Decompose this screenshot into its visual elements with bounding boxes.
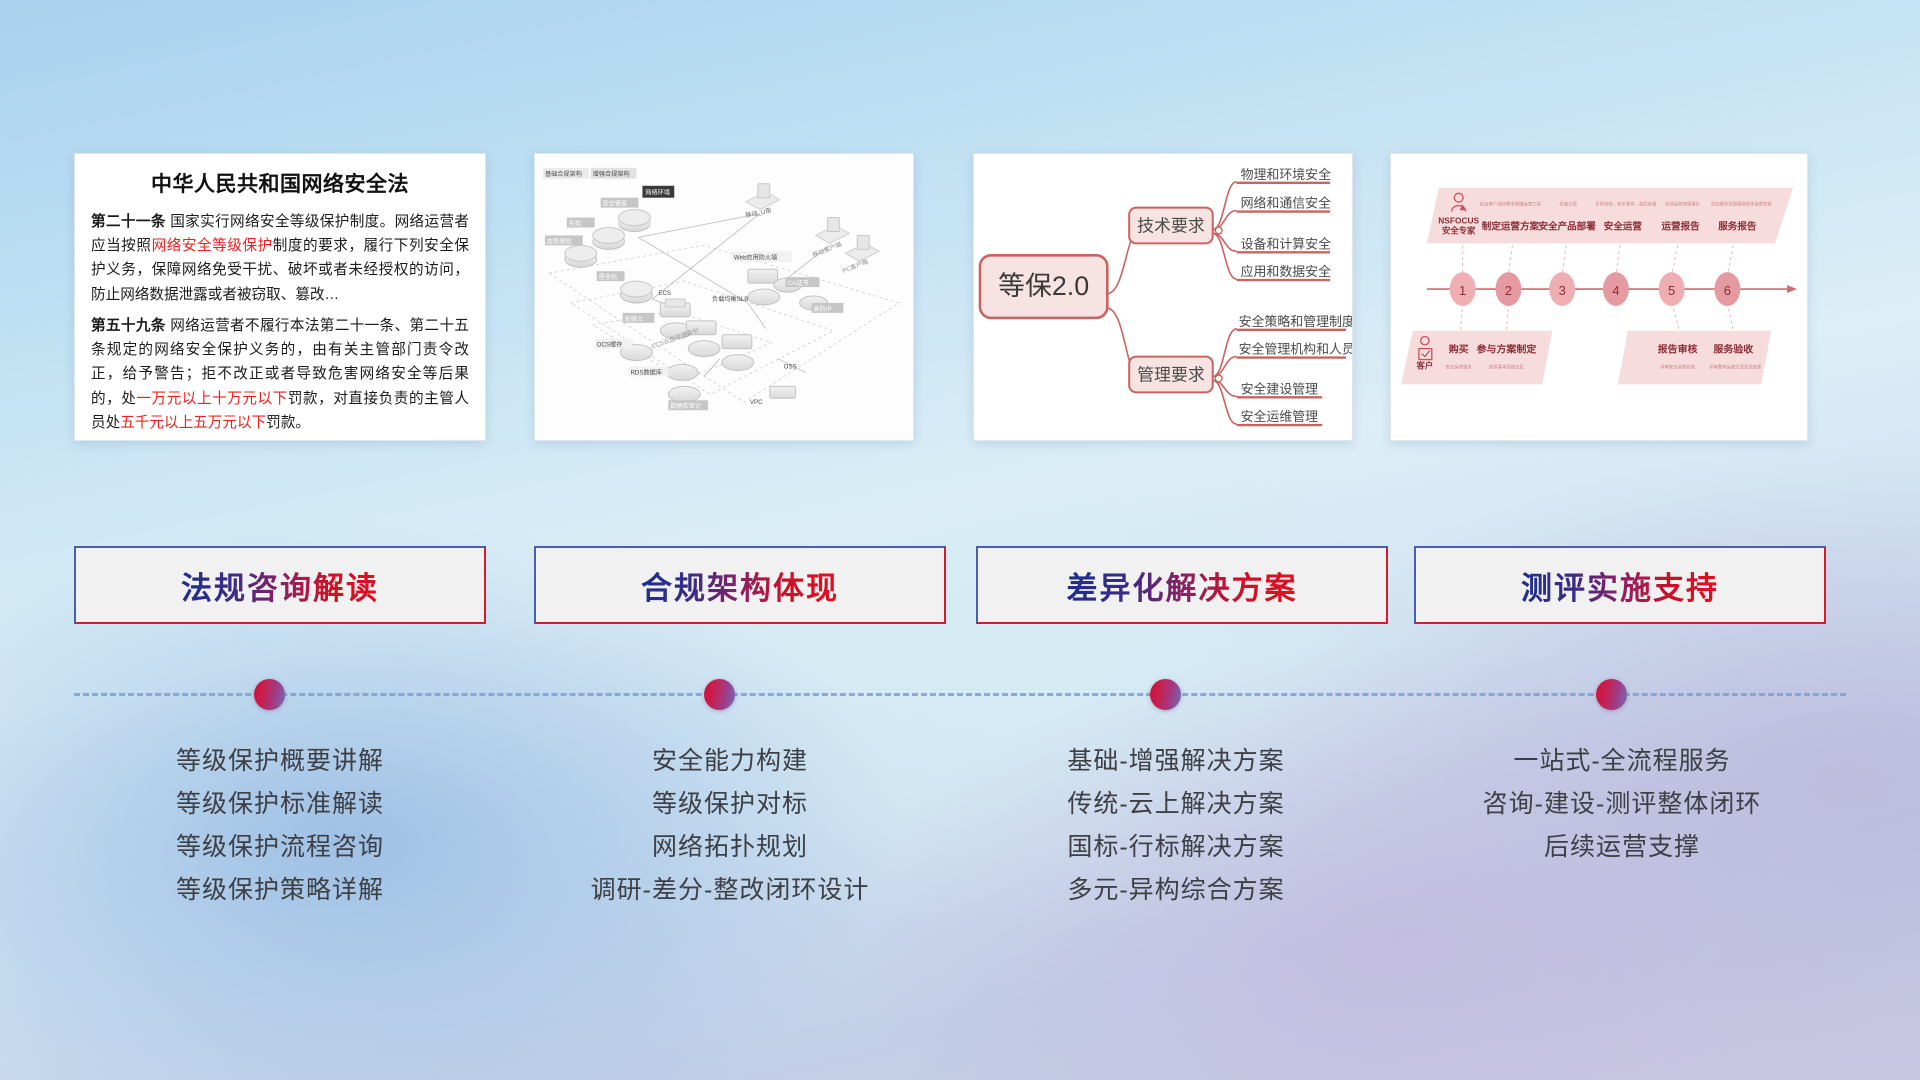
nsfocus-step-num-4: 4 <box>1612 283 1619 298</box>
mindmap-diagram: 等保2.0 技术要求 管理要求 物理和环境安全 网络和通信安全 设备和计算安全 … <box>974 154 1352 440</box>
list-item: 调研-差分-整改闭环设计 <box>524 869 936 912</box>
list-item: 多元-异构综合方案 <box>970 869 1382 912</box>
list-item: 等级保护概要讲解 <box>74 740 486 783</box>
architecture-svg: 基础合规架构 增强合规架构 网络环境 安全管家 先知 态势感知 堡垒机 移动_U… <box>535 154 913 440</box>
nsfocus-top-actor: NSFOCUS <box>1438 216 1479 226</box>
mindmap-leaf-2-1: 安全策略和管理制度 <box>1239 314 1352 329</box>
arch-node-xianzhi: 先知 <box>569 220 581 228</box>
mindmap-svg: 等保2.0 技术要求 管理要求 物理和环境安全 网络和通信安全 设备和计算安全 … <box>974 154 1352 440</box>
list-item: 等级保护标准解读 <box>74 783 486 826</box>
headline-label-4: 测评实施支持 <box>1521 563 1719 608</box>
law-article-21-label: 第二十一条 <box>91 214 166 230</box>
nsfocus-step-num-5: 5 <box>1668 283 1675 298</box>
timeline-dot-4 <box>1596 679 1627 710</box>
headline-box-4[interactable]: 测评实施支持 <box>1414 546 1826 624</box>
nsfocus-bottom-step-caption-4: 评审整体运营方案实现效果 <box>1709 364 1762 371</box>
nsfocus-bottom-actor: 客户 <box>1415 361 1433 371</box>
law-article-21: 第二十一条 国家实行网络安全等级保护制度。网络运营者应当按照网络安全等级保护制度… <box>91 210 469 307</box>
arch-tab-enhanced: 增强合规架构 <box>593 170 630 178</box>
arch-node-waf: Web应用防火墙 <box>734 253 777 261</box>
law-article-59-label: 第五十九条 <box>91 318 166 334</box>
timeline-dot-2 <box>704 679 735 710</box>
headline-label-2: 合规架构体现 <box>641 563 839 608</box>
arch-node-ca: CA证书 <box>788 279 809 287</box>
nsfocus-card: 1 2 3 4 5 6 NSFOCUS 安全专家 制 <box>1390 153 1808 441</box>
arch-node-slb: 负载均衡SLB <box>712 295 748 303</box>
nsfocus-top-step-caption-5: 形成运营效果报告 <box>1665 201 1701 208</box>
arch-node-vpc: VPC <box>750 399 763 406</box>
nsfocus-bottom-banner-right <box>1618 331 1771 385</box>
bullet-column-1: 等级保护概要讲解 等级保护标准解读 等级保护流程咨询 等级保护策略详解 <box>74 740 486 912</box>
arch-node-bastion: 堡垒机 <box>599 273 618 281</box>
arch-node-situation: 态势感知 <box>547 237 572 245</box>
nsfocus-top-step-title-2: 制定运营方案 <box>1482 220 1540 232</box>
mindmap-branch-label-2: 管理要求 <box>1137 365 1205 384</box>
nsfocus-step-num-6: 6 <box>1724 283 1731 298</box>
mindmap-card: 等保2.0 技术要求 管理要求 物理和环境安全 网络和通信安全 设备和计算安全 … <box>973 153 1353 441</box>
timeline-dot-1 <box>254 679 285 710</box>
law-article-59-highlight-2: 五千元以上五万元以下 <box>120 415 266 431</box>
list-item: 后续运营支撑 <box>1416 826 1828 869</box>
nsfocus-diagram: 1 2 3 4 5 6 NSFOCUS 安全专家 制 <box>1391 154 1807 440</box>
list-item: 等级保护策略详解 <box>74 869 486 912</box>
law-article-21-highlight: 网络安全等级保护 <box>152 238 273 254</box>
mindmap-leaf-2-2: 安全管理机构和人员 <box>1239 342 1352 357</box>
headline-box-2[interactable]: 合规架构体现 <box>534 546 946 624</box>
nsfocus-top-step-caption-2: 结合客户现状需求明确运营工具 <box>1480 201 1542 208</box>
headline-box-3[interactable]: 差异化解决方案 <box>976 546 1388 624</box>
timeline-dot-3 <box>1150 679 1181 710</box>
list-item: 基础-增强解决方案 <box>970 740 1382 783</box>
arch-node-oss: OSS <box>784 364 797 371</box>
nsfocus-top-step-title-5: 运营报告 <box>1662 220 1701 232</box>
mindmap-leaf-1-2: 网络和通信安全 <box>1241 196 1332 211</box>
nsfocus-bottom-step-title-2: 参与方案制定 <box>1477 343 1537 356</box>
nsfocus-top-banner <box>1427 188 1793 244</box>
list-item: 国标-行标解决方案 <box>970 826 1382 869</box>
list-item: 一站式-全流程服务 <box>1416 740 1828 783</box>
nsfocus-svg: 1 2 3 4 5 6 NSFOCUS 安全专家 制 <box>1391 154 1807 440</box>
law-article-59-highlight-1: 一万元以上十万元以下 <box>136 391 287 407</box>
list-item: 等级保护流程咨询 <box>74 826 486 869</box>
mindmap-leaf-2-3: 安全建设管理 <box>1241 381 1319 396</box>
list-item: 等级保护对标 <box>524 783 936 826</box>
law-card-body: 中华人民共和国网络安全法 第二十一条 国家实行网络安全等级保护制度。网络运营者应… <box>75 154 485 441</box>
arch-node-network: 网络环境 <box>645 189 670 197</box>
list-item: 网络拓扑规划 <box>524 826 936 869</box>
headline-box-1[interactable]: 法规咨询解读 <box>74 546 486 624</box>
nsfocus-top-step-title-6: 服务报告 <box>1718 220 1757 232</box>
arch-node-antiddos: 高防IP <box>814 305 832 313</box>
list-item: 传统-云上解决方案 <box>970 783 1382 826</box>
bullet-column-2: 安全能力构建 等级保护对标 网络拓扑规划 调研-差分-整改闭环设计 <box>524 740 936 912</box>
law-article-59: 第五十九条 网络运营者不履行本法第二十一条、第二十五条规定的网络安全保护义务的，… <box>91 314 469 435</box>
nsfocus-top-step-caption-6: 总结服务范围落地总体运营效果 <box>1711 201 1773 208</box>
law-card: 中华人民共和国网络安全法 第二十一条 国家实行网络安全等级保护制度。网络运营者应… <box>74 153 486 441</box>
nsfocus-step-num-3: 3 <box>1559 283 1566 298</box>
mindmap-leaf-2-4: 安全运维管理 <box>1241 409 1319 424</box>
nsfocus-step-num-1: 1 <box>1459 283 1466 298</box>
headline-label-3: 差异化解决方案 <box>1067 563 1298 608</box>
mindmap-leaf-1-1: 物理和环境安全 <box>1241 167 1332 182</box>
slide-stage: 中华人民共和国网络安全法 第二十一条 国家实行网络安全等级保护制度。网络运营者应… <box>0 0 1920 1080</box>
nsfocus-step-num-2: 2 <box>1505 283 1512 298</box>
arch-tab-basic: 基础合规架构 <box>545 170 582 178</box>
law-article-59-text-c: 罚款。 <box>266 415 310 431</box>
mindmap-root-label: 等保2.0 <box>998 271 1089 301</box>
arch-node-sec-butler: 安全管家 <box>603 200 628 208</box>
arch-node-ocs: OCS缓存 <box>597 341 623 349</box>
nsfocus-bottom-step-caption-2: 提供基本现状信息 <box>1489 364 1525 371</box>
headline-label-1: 法规咨询解读 <box>181 563 379 608</box>
arch-node-anqishi: 安骑士 <box>625 315 643 323</box>
timeline-rail <box>74 693 1846 696</box>
nsfocus-top-step-caption-4: 日常巡检、安全事件、高危处置 <box>1595 201 1657 208</box>
law-card-title: 中华人民共和国网络安全法 <box>91 168 469 198</box>
nsfocus-bottom-step-title-1: 购买 <box>1449 343 1469 356</box>
bullet-column-4: 一站式-全流程服务 咨询-建设-测评整体闭环 后续运营支撑 <box>1416 740 1828 869</box>
nsfocus-top-step-caption-3: 实施方案 <box>1559 201 1577 208</box>
arch-node-ecs: ECS <box>658 290 671 297</box>
nsfocus-bottom-banner-left <box>1401 331 1552 385</box>
nsfocus-bottom-step-title-4: 服务验收 <box>1713 343 1753 356</box>
nsfocus-bottom-step-caption-1: 安全运营服务 <box>1446 364 1473 371</box>
arch-node-rds: RDS数据库 <box>630 368 661 376</box>
bullet-column-3: 基础-增强解决方案 传统-云上解决方案 国标-行标解决方案 多元-异构综合方案 <box>970 740 1382 912</box>
mindmap-leaf-1-4: 应用和数据安全 <box>1241 264 1332 279</box>
nsfocus-bottom-step-caption-3: 评审安全运营效果 <box>1660 364 1696 371</box>
nsfocus-bottom-step-title-3: 报告审核 <box>1658 343 1698 356</box>
mindmap-leaf-1-3: 设备和计算安全 <box>1241 236 1332 251</box>
list-item: 咨询-建设-测评整体闭环 <box>1416 783 1828 826</box>
nsfocus-top-step-title-3: 安全产品部署 <box>1539 220 1597 232</box>
nsfocus-top-step-title-4: 安全运营 <box>1604 220 1643 232</box>
list-item: 安全能力构建 <box>524 740 936 783</box>
nsfocus-top-actor-sub: 安全专家 <box>1442 225 1476 235</box>
architecture-diagram: 基础合规架构 增强合规架构 网络环境 安全管家 先知 态势感知 堡垒机 移动_U… <box>535 154 913 440</box>
mindmap-branch-label-1: 技术要求 <box>1137 216 1205 235</box>
arch-node-db-audit: 数据库审计 <box>670 402 701 410</box>
architecture-card: 基础合规架构 增强合规架构 网络环境 安全管家 先知 态势感知 堡垒机 移动_U… <box>534 153 914 441</box>
